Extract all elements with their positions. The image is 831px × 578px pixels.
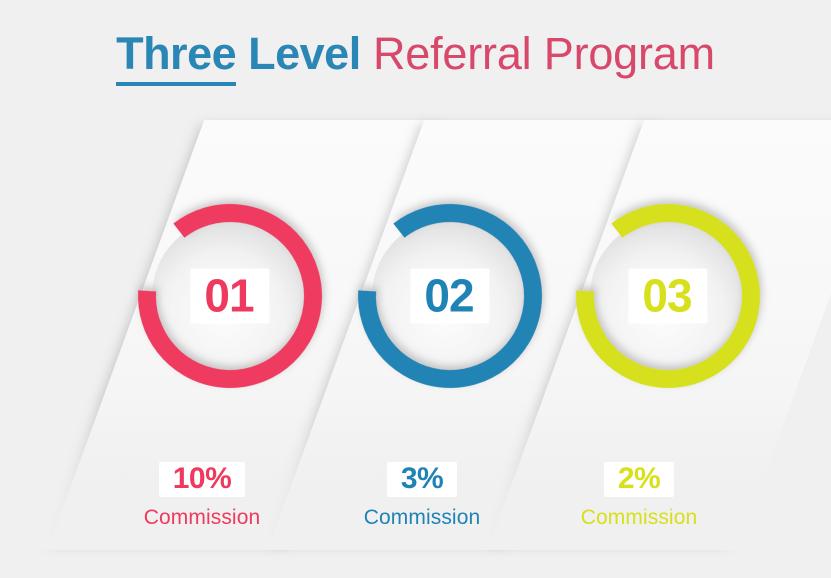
level-percent-plate-1: 10%: [159, 462, 246, 497]
level-percent-3: 2%: [618, 462, 660, 495]
level-number-2: 02: [424, 273, 473, 319]
page-title: Three Level Referral Program: [0, 28, 831, 80]
level-percent-2: 3%: [401, 462, 443, 495]
level-footer-3: 2% Commission: [534, 462, 744, 530]
level-number-3: 03: [642, 273, 691, 319]
level-circle-2[interactable]: 02: [357, 203, 543, 389]
title-segment-referral-program: Referral Program: [361, 28, 715, 79]
level-percent-1: 10%: [173, 462, 232, 495]
level-footer-1: 10% Commission: [97, 462, 307, 530]
level-number-plate-3: 03: [628, 269, 707, 324]
level-commission-label-2: Commission: [317, 506, 527, 530]
level-circle-1[interactable]: 01: [137, 203, 323, 389]
level-commission-label-1: Commission: [97, 506, 307, 530]
level-circle-3[interactable]: 03: [575, 203, 761, 389]
level-number-1: 01: [204, 273, 253, 319]
title-segment-level: Level: [236, 28, 361, 79]
title-segment-three: Three: [116, 28, 236, 86]
level-commission-label-3: Commission: [534, 506, 744, 530]
level-number-plate-1: 01: [190, 269, 269, 324]
level-percent-plate-3: 2%: [604, 462, 674, 497]
level-number-plate-2: 02: [410, 269, 489, 324]
infographic-canvas: Three Level Referral Program: [0, 0, 831, 578]
level-footer-2: 3% Commission: [317, 462, 527, 530]
level-percent-plate-2: 3%: [387, 462, 457, 497]
title-segment-three-wrapper: Three Level: [116, 28, 361, 86]
